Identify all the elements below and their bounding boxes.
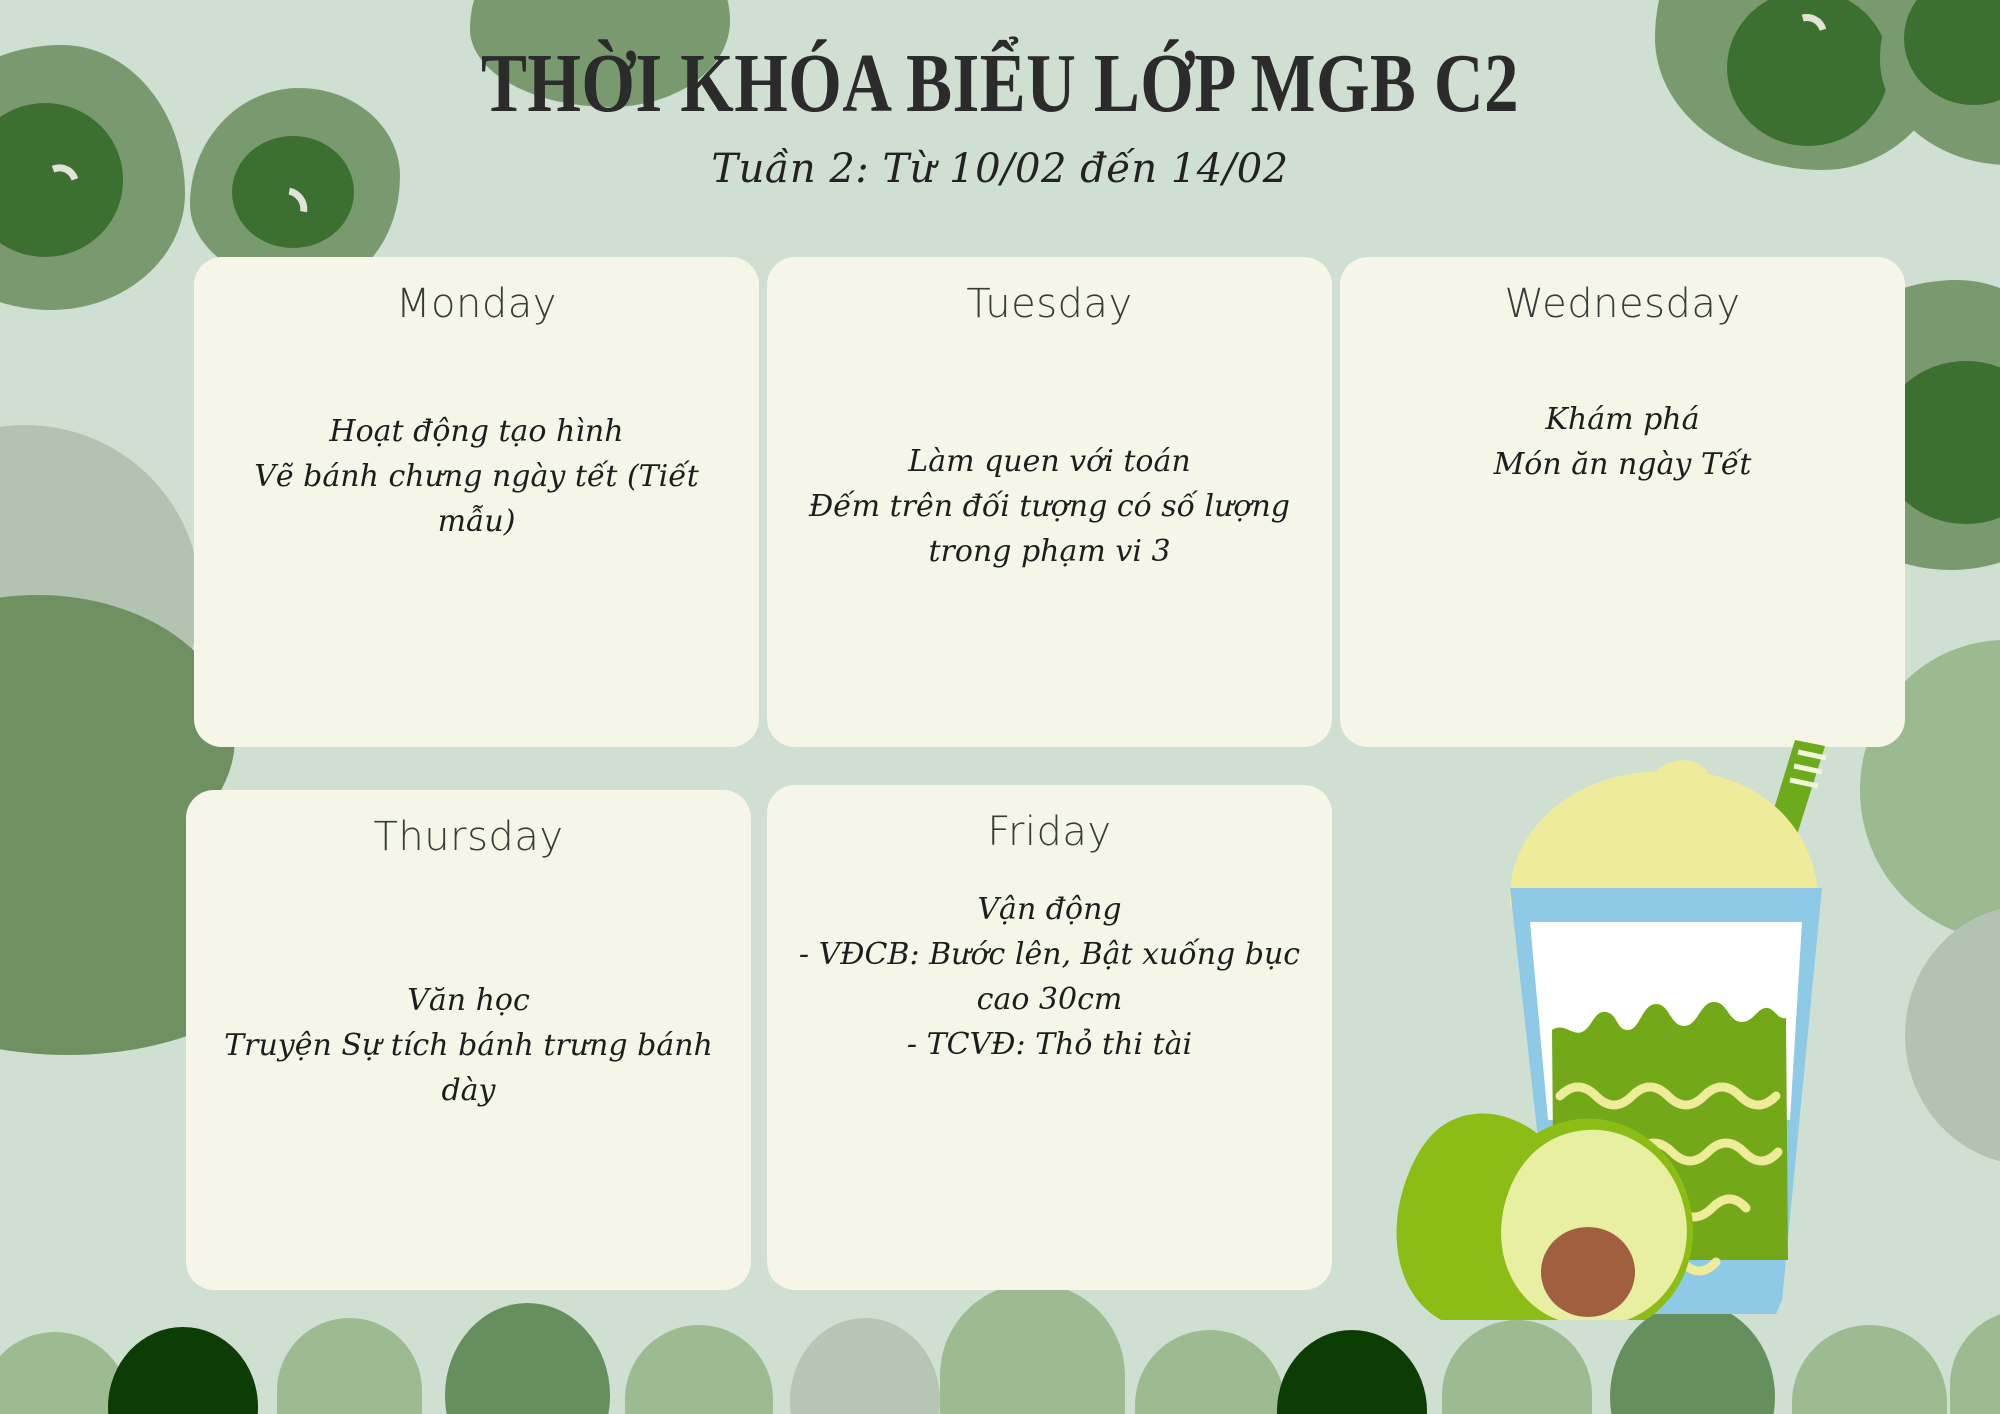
bottom-shape-light [277, 1318, 422, 1414]
page-title: THỜI KHÓA BIỂU LỚP MGB C2 [180, 42, 1820, 126]
activity-line: Truyện Sự tích bánh trưng bánh dày [209, 1023, 729, 1113]
activity-line: Món ăn ngày Tết [1363, 442, 1883, 487]
activity-line: - TCVĐ: Thỏ thi tài [790, 1022, 1310, 1067]
avocado-pit-icon [1541, 1227, 1635, 1317]
day-card-tuesday[interactable]: Tuesday Làm quen với toán Đếm trên đối t… [767, 257, 1332, 747]
day-activities-friday: Vận động - VĐCB: Bước lên, Bật xuống bục… [790, 887, 1310, 1067]
day-card-monday[interactable]: Monday Hoạt động tạo hình Vẽ bánh chưng … [194, 257, 759, 747]
page-subtitle: Tuần 2: Từ 10/02 đến 14/02 [0, 146, 2000, 192]
activity-line: Văn học [209, 978, 729, 1023]
activity-line: Làm quen với toán [790, 439, 1310, 484]
day-card-friday[interactable]: Friday Vận động - VĐCB: Bước lên, Bật xu… [767, 785, 1332, 1290]
bottom-shape-deep [1277, 1330, 1427, 1414]
day-label-wednesday: Wednesday [1340, 281, 1905, 327]
avocado-blob-icon [0, 425, 200, 770]
bottom-shape-light [1135, 1330, 1285, 1414]
bottom-shape-dark [445, 1303, 610, 1414]
day-activities-tuesday: Làm quen với toán Đếm trên đối tượng có … [790, 439, 1310, 574]
day-card-thursday[interactable]: Thursday Văn học Truyện Sự tích bánh trư… [186, 790, 751, 1290]
activity-line: Vận động [790, 887, 1310, 932]
bottom-shape-light [1950, 1310, 2000, 1414]
day-label-monday: Monday [194, 281, 759, 327]
day-label-tuesday: Tuesday [767, 281, 1332, 327]
bottom-shape-light [940, 1283, 1125, 1414]
day-card-wednesday[interactable]: Wednesday Khám phá Món ăn ngày Tết [1340, 257, 1905, 747]
day-activities-monday: Hoạt động tạo hình Vẽ bánh chưng ngày tế… [217, 409, 737, 544]
day-activities-thursday: Văn học Truyện Sự tích bánh trưng bánh d… [209, 978, 729, 1113]
day-activities-wednesday: Khám phá Món ăn ngày Tết [1363, 397, 1883, 487]
poster-header: THỜI KHÓA BIỂU LỚP MGB C2 Tuần 2: Từ 10/… [0, 42, 2000, 192]
poster-canvas: THỜI KHÓA BIỂU LỚP MGB C2 Tuần 2: Từ 10/… [0, 0, 2000, 1414]
bottom-shape-light [1442, 1320, 1592, 1414]
activity-line: Đếm trên đối tượng có số lượng trong phạ… [790, 484, 1310, 574]
activity-line: - VĐCB: Bước lên, Bật xuống bục cao 30cm [790, 932, 1310, 1022]
bottom-shape-light [625, 1325, 773, 1414]
day-label-thursday: Thursday [186, 814, 751, 860]
avocado-smoothie-illustration [1370, 700, 1930, 1320]
day-label-friday: Friday [767, 809, 1332, 855]
activity-line: Hoạt động tạo hình [217, 409, 737, 454]
bottom-shape-light [1792, 1325, 1947, 1414]
bottom-shape-grey [790, 1318, 940, 1414]
whipped-foam [1510, 760, 1818, 906]
bottom-shape-deep [108, 1327, 258, 1414]
activity-line: Khám phá [1363, 397, 1883, 442]
activity-line: Vẽ bánh chưng ngày tết (Tiết mẫu) [217, 454, 737, 544]
bottom-shape-light [0, 1332, 130, 1414]
